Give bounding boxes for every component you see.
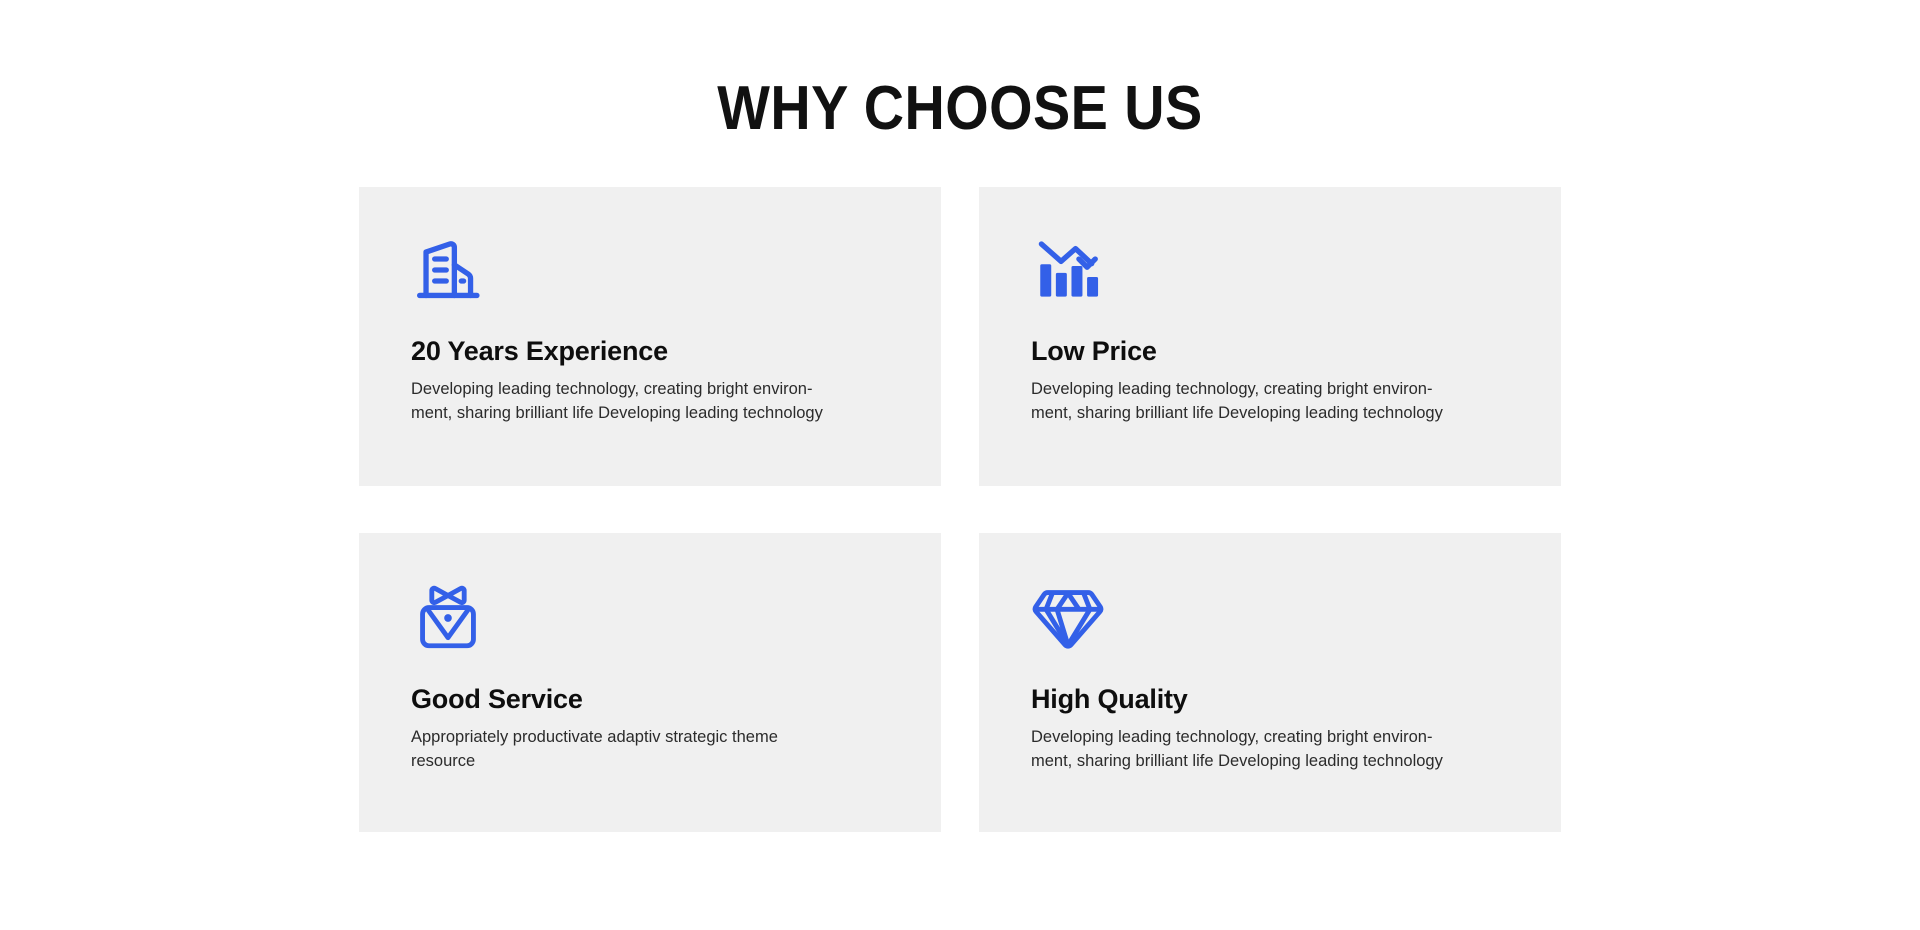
card-content: Low Price Developing leading technology,…: [1031, 233, 1527, 426]
page-title: WHY CHOOSE US: [96, 76, 1824, 141]
feature-card-low-price[interactable]: Low Price Developing leading technology,…: [979, 187, 1561, 486]
tuxedo-bowtie-icon: [411, 581, 485, 655]
building-icon: [411, 233, 485, 307]
card-title: Low Price: [1031, 335, 1527, 367]
feature-card-good-service[interactable]: Good Service Appropriately productivate …: [359, 533, 941, 832]
feature-card-experience[interactable]: 20 Years Experience Developing leading t…: [359, 187, 941, 486]
card-title: 20 Years Experience: [411, 335, 907, 367]
card-title: High Quality: [1031, 683, 1527, 715]
card-description: Developing leading technology, creating …: [1031, 726, 1446, 774]
card-title: Good Service: [411, 683, 907, 715]
feature-card-high-quality[interactable]: High Quality Developing leading technolo…: [979, 533, 1561, 832]
feature-cards-grid: 20 Years Experience Developing leading t…: [359, 187, 1561, 832]
card-content: 20 Years Experience Developing leading t…: [411, 233, 907, 426]
card-description: Developing leading technology, creating …: [411, 378, 826, 426]
card-description: Appropriately productivate adaptiv strat…: [411, 726, 826, 774]
card-description: Developing leading technology, creating …: [1031, 378, 1446, 426]
why-choose-us-section: WHY CHOOSE US 20 Years Experience: [0, 0, 1920, 930]
card-content: Good Service Appropriately productivate …: [411, 581, 907, 774]
card-content: High Quality Developing leading technolo…: [1031, 581, 1527, 774]
declining-bar-chart-icon: [1031, 233, 1105, 307]
diamond-icon: [1031, 581, 1105, 655]
